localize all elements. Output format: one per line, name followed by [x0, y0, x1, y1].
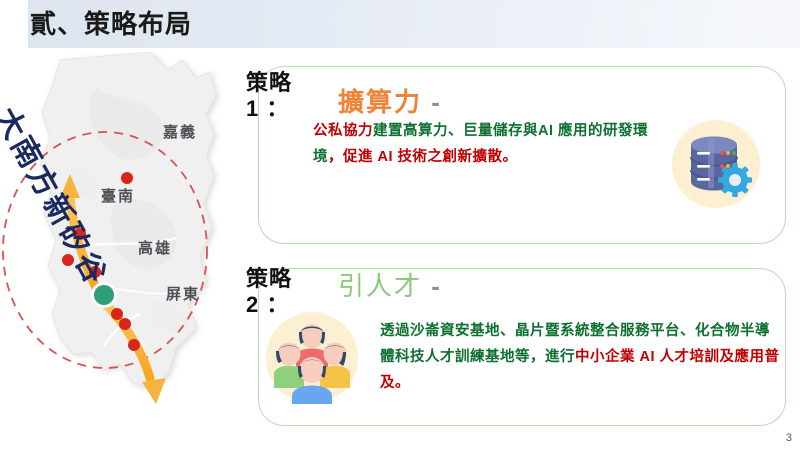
strategy-1-icon-backdrop [672, 120, 760, 208]
page-title: 貳、策略布局 [30, 4, 192, 44]
strategy-2-heading-text: 引人才 [338, 271, 422, 301]
strategy-2-number-label: 策略 2 ： [246, 266, 292, 318]
strategy-1-number-label: 策略 1 ： [246, 70, 292, 122]
strategy-1-body: 公私協力建置高算力、巨量儲存與AI 應用的研發環境，促進 AI 技術之創新擴散。 [313, 118, 653, 170]
strategy-1-heading-dash: - [422, 87, 442, 117]
strategy-2-icon-backdrop [266, 312, 358, 404]
people-group-icon [266, 312, 358, 404]
strategy-2-heading: 引人才 - [338, 266, 442, 303]
strategy-1-heading: 擴算力 - [338, 82, 442, 119]
strategy-1-heading-text: 擴算力 [338, 87, 422, 117]
taiwan-south-map-graphic [0, 52, 250, 450]
strategy-2-heading-dash: - [422, 271, 442, 301]
map-label-tainan: 臺南 [101, 185, 135, 206]
map-label-chiayi: 嘉義 [163, 121, 197, 142]
strategy-2-body: 透過沙崙資安基地、晶片暨系統整合服務平台、化合物半導體科技人才訓練基地等，進行中… [380, 318, 780, 396]
strategy-1-body-seg-0: 公私協力 [313, 123, 373, 139]
database-gear-icon [672, 120, 760, 208]
map-label-pingtung: 屏東 [166, 283, 200, 304]
page-number: 3 [786, 432, 792, 444]
map-panel: 嘉義 臺南 高雄 屏東 大南方新矽谷 [0, 52, 250, 450]
strategy-1-body-seg-2: ，促進 AI 技術之創新擴散。 [328, 149, 518, 165]
map-label-kaohsiung: 高雄 [138, 237, 172, 258]
